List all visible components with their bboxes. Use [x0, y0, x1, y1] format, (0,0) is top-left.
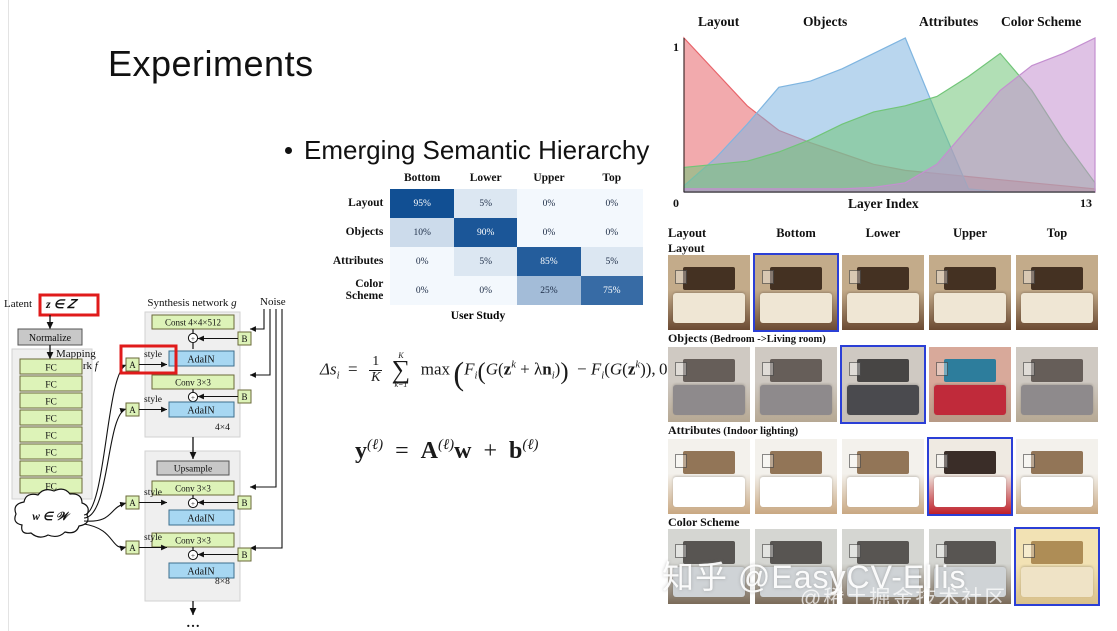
column-header-bottom: Bottom [390, 172, 454, 189]
thumbnail-bed [760, 385, 832, 415]
normalize-block-label: Normalize [29, 333, 72, 344]
svg-text:B: B [241, 550, 247, 560]
thumbnail-bed [1021, 567, 1093, 597]
chart-canvas [670, 14, 1110, 214]
thumbnail-furniture [770, 451, 822, 474]
user-study-table: User Study Bottom Lower Upper Top Layout… [313, 172, 643, 322]
svg-text:+: + [191, 500, 195, 508]
thumbnail-bedroom-bright-1[interactable] [668, 439, 750, 514]
thumbnail-wall-art [849, 544, 862, 558]
thumbnail-wall-art [849, 362, 862, 376]
thumbnail-bed [1021, 293, 1093, 323]
thumbnail-bed [673, 477, 745, 507]
table-cell: 75% [581, 276, 643, 305]
image-grid-row-attributes: Attributes (Indoor lighting) [668, 423, 1116, 514]
table-cell: 0% [390, 276, 454, 305]
noise-label: Noise [260, 296, 286, 308]
thumbnail-bedroom-cool-2[interactable] [755, 529, 837, 604]
thumbnail-wall-art [936, 544, 949, 558]
table-cell: 5% [581, 247, 643, 276]
thumbnail-furniture [1031, 541, 1083, 564]
chart-legend-attributes: Attributes [919, 14, 978, 30]
table-cell: 0% [454, 276, 517, 305]
table-row: Layout95%5%0%0% [313, 189, 643, 218]
thumbnail-furniture [857, 451, 909, 474]
thumbnail-bed [673, 385, 745, 415]
equation-delta-s: Δsi = 1K K∑k=1 max (Fi(G(zk + λni)) − Fi… [320, 352, 678, 393]
column-header-layout: Layout [668, 226, 750, 241]
thumbnail-bed [847, 293, 919, 323]
chart-ytick-max: 1 [673, 40, 679, 55]
svg-text:+: + [191, 335, 195, 343]
synthesis-network-label: Synthesis network g [147, 297, 237, 309]
svg-text:w ∈ 𝒲: w ∈ 𝒲 [32, 511, 70, 523]
thumbnail-wall-art [762, 270, 775, 284]
svg-text:FC: FC [45, 415, 57, 425]
thumbnail-bedroom-bright-2[interactable] [755, 439, 837, 514]
thumbnail-bed [760, 293, 832, 323]
thumbnail-bed [673, 293, 745, 323]
svg-text:FC: FC [45, 466, 57, 476]
svg-text:B: B [241, 498, 247, 508]
svg-text:B: B [241, 392, 247, 402]
thumbnail-wall-art [675, 362, 688, 376]
thumbnail-bed [673, 567, 745, 597]
equation-y-affine: y(ℓ) = A(ℓ)w + b(ℓ) [355, 437, 538, 465]
row-label: Attributes (Indoor lighting) [668, 423, 1116, 439]
thumbnail-wall-art [936, 454, 949, 468]
resolution-4x4: 4×4 [215, 423, 230, 433]
page-title: Experiments [108, 43, 314, 85]
adain-block-label-2: AdaIN [187, 406, 214, 417]
thumbnail-wall-art [1023, 454, 1036, 468]
thumbnail-wall-art [936, 270, 949, 284]
bullet-item: Emerging Semantic Hierarchy [285, 135, 649, 166]
thumbnail-furniture [857, 267, 909, 290]
svg-text:+: + [191, 552, 195, 560]
table-cell: 0% [581, 218, 643, 247]
thumbnail-bed [934, 293, 1006, 323]
mapping-network-label-1: Mapping [56, 348, 96, 360]
chart-legend-objects: Objects [803, 14, 847, 30]
row-header-2: Attributes [313, 247, 390, 276]
thumbnail-bed [760, 477, 832, 507]
diagram-ellipsis: … [186, 616, 200, 631]
svg-text:FC: FC [45, 364, 57, 374]
thumbnail-wall-art [1023, 362, 1036, 376]
thumbnail-bed [934, 385, 1006, 415]
thumbnail-bedroom-dark-wood-1[interactable] [668, 255, 750, 330]
qualitative-image-grid: Layout Bottom Lower Upper Top LayoutObje… [668, 226, 1116, 605]
chart-legend-color-scheme: Color Scheme [1001, 14, 1081, 30]
column-header-top: Top [581, 172, 643, 189]
image-grid-column-headers: Layout Bottom Lower Upper Top [668, 226, 1116, 241]
thumbnail-bed [934, 477, 1006, 507]
thumbnail-bedroom-lit-dark[interactable] [929, 439, 1011, 514]
table-cell: 5% [454, 247, 517, 276]
table-cell: 0% [390, 247, 454, 276]
thumbnail-furniture [1031, 451, 1083, 474]
image-grid-row-objects: Objects (Bedroom ->Living room) [668, 331, 1116, 422]
thumbnail-wall-art [849, 454, 862, 468]
table-cell: 0% [581, 189, 643, 218]
style-label-1: style [144, 350, 162, 360]
column-header-upper: Upper [517, 172, 580, 189]
thumbnail-furniture [683, 359, 735, 382]
table-cell: 95% [390, 189, 454, 218]
thumbnail-furniture [857, 359, 909, 382]
row-sublabel: (Indoor lighting) [721, 426, 798, 437]
column-header-lower: Lower [454, 172, 517, 189]
table-row: Attributes0%5%85%5% [313, 247, 643, 276]
thumbnail-bed [847, 385, 919, 415]
latent-label: Latent [4, 298, 32, 310]
thumbnail-bedroom-dark-wood-2[interactable] [755, 255, 837, 330]
chart-ytick-min: 0 [673, 196, 679, 211]
thumbnail-wall-art [762, 454, 775, 468]
thumbnail-bedroom-gray-5[interactable] [1016, 347, 1098, 422]
thumbnail-bed [847, 477, 919, 507]
thumbnail-bedroom-dark-wood-3[interactable] [842, 255, 924, 330]
user-study-caption: User Study [313, 305, 643, 322]
thumbnail-bedroom-dark-wood-4[interactable] [929, 255, 1011, 330]
thumbnail-strip [668, 255, 1116, 330]
svg-text:A: A [129, 360, 136, 370]
thumbnail-furniture [683, 267, 735, 290]
thumbnail-wall-art [762, 544, 775, 558]
thumbnail-bedroom-bright-3[interactable] [842, 439, 924, 514]
thumbnail-bed [760, 567, 832, 597]
table-cell: 90% [454, 218, 517, 247]
thumbnail-strip [668, 529, 1116, 604]
style-label-4: style [144, 533, 162, 543]
thumbnail-furniture [770, 541, 822, 564]
svg-text:A: A [129, 498, 136, 508]
thumbnail-bed [1021, 477, 1093, 507]
image-grid-row-layout: Layout [668, 241, 1116, 330]
style-label-2: style [144, 395, 162, 405]
thumbnail-bedroom-colorful[interactable] [929, 347, 1011, 422]
thumbnail-bedroom-bright-5[interactable] [1016, 439, 1098, 514]
style-label-3: style [144, 488, 162, 498]
thumbnail-wall-art [675, 454, 688, 468]
column-header-bottom: Bottom [755, 226, 837, 241]
svg-text:FC: FC [45, 381, 57, 391]
thumbnail-furniture [770, 359, 822, 382]
svg-text:FC: FC [45, 398, 57, 408]
svg-text:FC: FC [45, 449, 57, 459]
table-cell: 0% [517, 189, 580, 218]
thumbnail-wall-art [849, 270, 862, 284]
upsample-block-label: Upsample [174, 465, 213, 475]
svg-text:Conv 3×3: Conv 3×3 [175, 536, 211, 546]
thumbnail-furniture [683, 451, 735, 474]
thumbnail-furniture [944, 541, 996, 564]
thumbnail-bedroom-cool-4[interactable] [929, 529, 1011, 604]
adain-block-label-1: AdaIN [187, 355, 214, 366]
thumbnail-wall-art [1023, 270, 1036, 284]
table-row: Objects10%90%0%0% [313, 218, 643, 247]
corner-cell [313, 172, 390, 189]
adain-block-label-4: AdaIN [187, 567, 214, 578]
thumbnail-bed [1021, 385, 1093, 415]
column-header-upper: Upper [929, 226, 1011, 241]
table-cell: 5% [454, 189, 517, 218]
chart-xtick-max: 13 [1080, 196, 1092, 211]
table-row: ColorScheme0%0%25%75% [313, 276, 643, 305]
chart-xaxis-label: Layer Index [848, 196, 919, 212]
table-cell: 0% [517, 218, 580, 247]
svg-text:Conv 3×3: Conv 3×3 [175, 378, 211, 388]
thumbnail-bed [847, 567, 919, 597]
row-header-1: Objects [313, 218, 390, 247]
image-grid-row-color-scheme: Color Scheme [668, 515, 1116, 604]
column-header-lower: Lower [842, 226, 924, 241]
const-block-label: Const 4×4×512 [165, 318, 221, 328]
column-header-top: Top [1016, 226, 1098, 241]
table-cell: 85% [517, 247, 580, 276]
thumbnail-bedroom-warm-yellow[interactable] [1016, 529, 1098, 604]
chart-legend-layout: Layout [698, 14, 739, 30]
bullet-item-label: Emerging Semantic Hierarchy [304, 135, 649, 166]
adain-block-label-3: AdaIN [187, 514, 214, 525]
thumbnail-wall-art [762, 362, 775, 376]
thumbnail-furniture [770, 267, 822, 290]
thumbnail-wall-art [936, 362, 949, 376]
resolution-8x8: 8×8 [215, 577, 230, 587]
thumbnail-furniture [1031, 267, 1083, 290]
thumbnail-livingroom-sofa[interactable] [842, 347, 924, 422]
thumbnail-strip [668, 347, 1116, 422]
thumbnail-wall-art [675, 270, 688, 284]
thumbnail-bedroom-cool-1[interactable] [668, 529, 750, 604]
thumbnail-furniture [944, 267, 996, 290]
thumbnail-bed [934, 567, 1006, 597]
thumbnail-bedroom-gray-2[interactable] [755, 347, 837, 422]
thumbnail-wall-art [1023, 544, 1036, 558]
svg-text:Conv 3×3: Conv 3×3 [175, 484, 211, 494]
table-cell: 10% [390, 218, 454, 247]
thumbnail-furniture [683, 541, 735, 564]
thumbnail-furniture [944, 451, 996, 474]
layer-index-area-chart: Layout Objects Attributes Color Scheme 1… [670, 14, 1110, 214]
thumbnail-bedroom-gray-1[interactable] [668, 347, 750, 422]
svg-text:+: + [191, 394, 195, 402]
thumbnail-bedroom-cool-3[interactable] [842, 529, 924, 604]
svg-text:A: A [129, 405, 136, 415]
row-sublabel: (Bedroom ->Living room) [707, 334, 825, 345]
thumbnail-strip [668, 439, 1116, 514]
thumbnail-wall-art [675, 544, 688, 558]
stylegan-architecture-diagram: Latent z ∈ 𝑍 Normalize Mapping network f… [2, 293, 320, 631]
svg-text:A: A [129, 543, 136, 553]
bullet-dot-icon [285, 147, 292, 154]
svg-text:B: B [241, 334, 247, 344]
row-label: Objects (Bedroom ->Living room) [668, 331, 1116, 347]
thumbnail-furniture [1031, 359, 1083, 382]
table-header-row: Bottom Lower Upper Top [313, 172, 643, 189]
latent-space-label: z ∈ 𝑍 [45, 297, 79, 311]
thumbnail-furniture [944, 359, 996, 382]
table-cell: 25% [517, 276, 580, 305]
row-header-3: ColorScheme [313, 276, 390, 305]
row-label: Layout [668, 241, 1116, 255]
thumbnail-furniture [857, 541, 909, 564]
thumbnail-bedroom-dark-wood-5[interactable] [1016, 255, 1098, 330]
svg-text:FC: FC [45, 432, 57, 442]
row-header-0: Layout [313, 189, 390, 218]
row-label: Color Scheme [668, 515, 1116, 529]
